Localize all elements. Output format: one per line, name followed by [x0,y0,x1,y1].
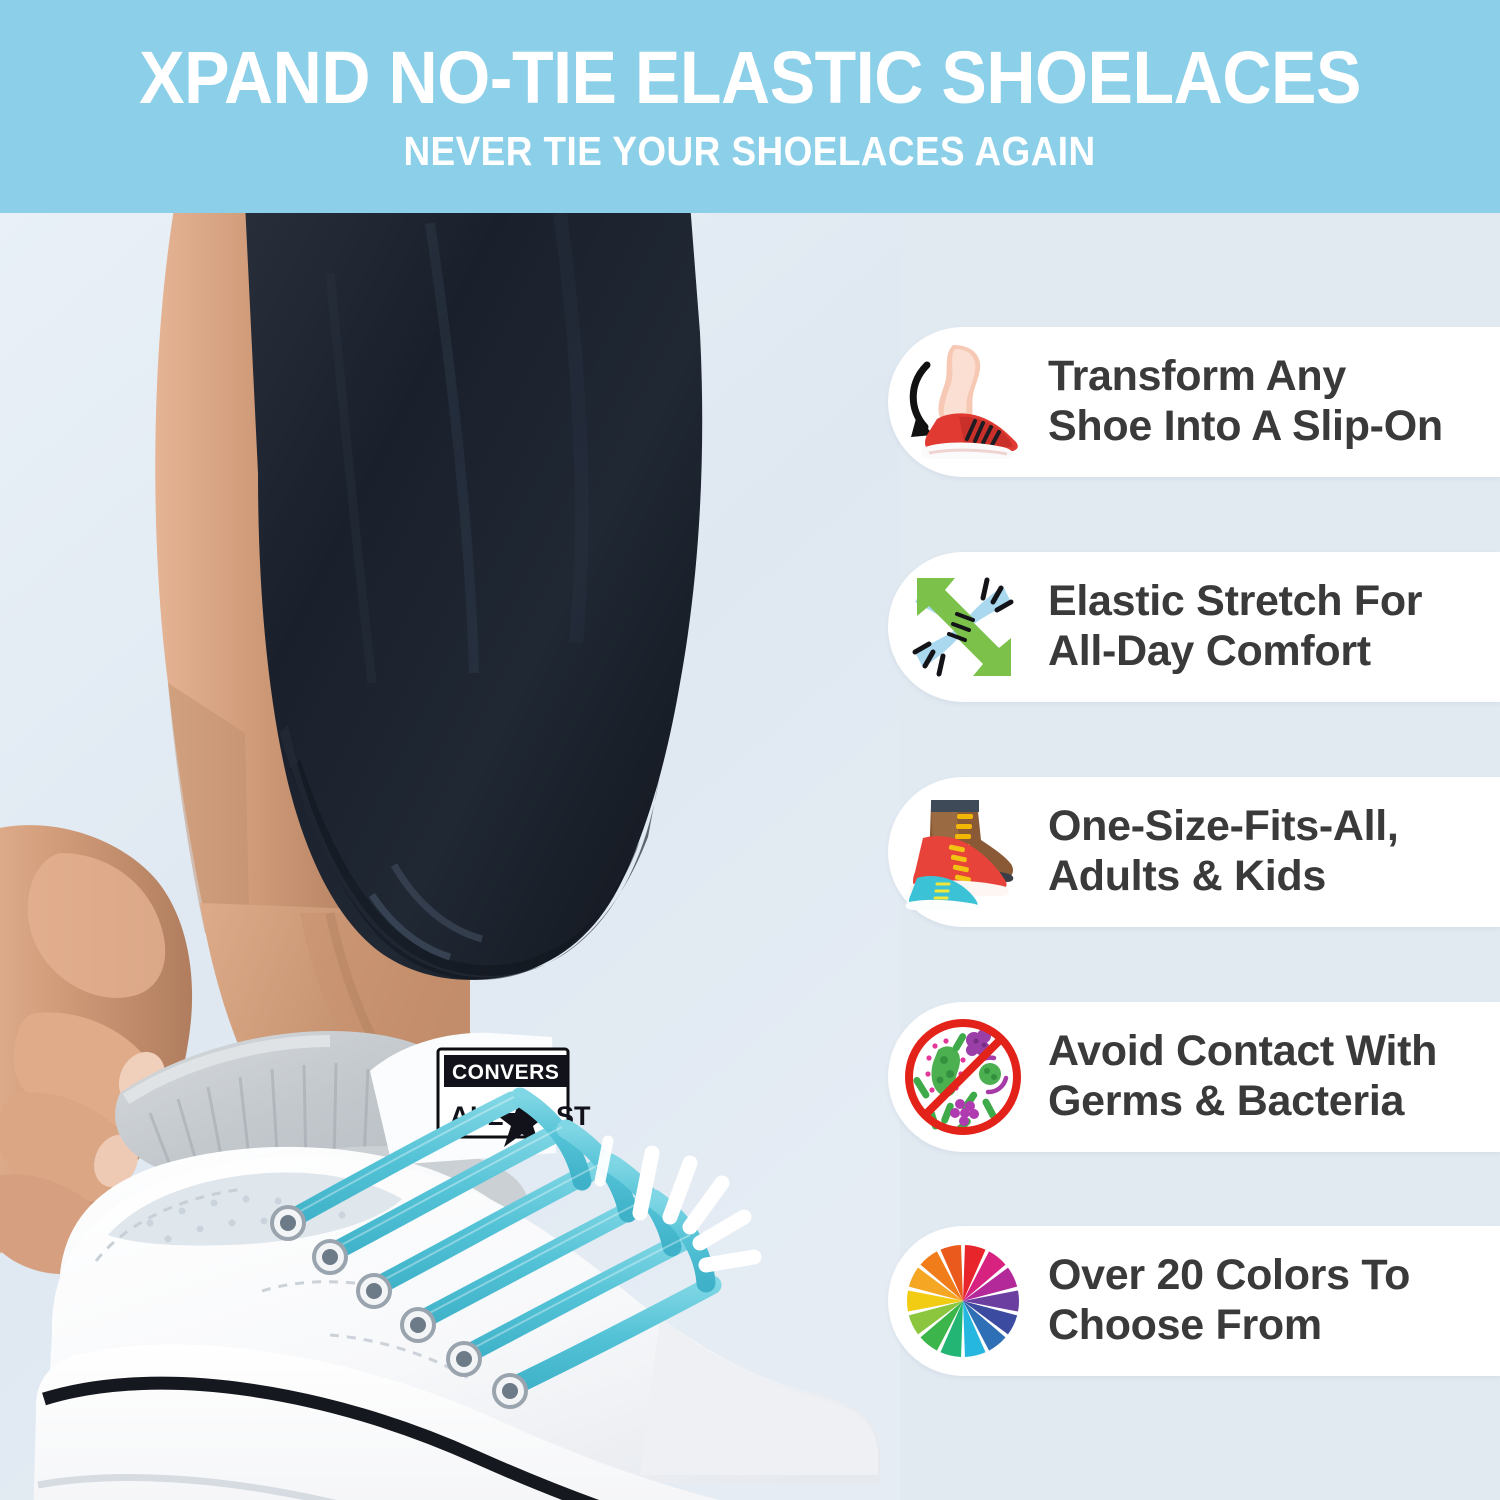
feature-label: Transform Any Shoe Into A Slip-On [1048,352,1443,452]
stretch-arrows-icon [888,552,1038,702]
color-wheel-icon [888,1226,1038,1376]
svg-text:CONVERS: CONVERS [452,1061,559,1084]
feature-card-one-size[interactable]: One-Size-Fits-All, Adults & Kids [888,777,1500,927]
banner-subtitle: NEVER TIE YOUR SHOELACES AGAIN [404,131,1096,172]
feature-card-transform-shoe[interactable]: Transform Any Shoe Into A Slip-On [888,327,1500,477]
feature-label: Elastic Stretch For All-Day Comfort [1048,577,1422,677]
header-banner: XPAND NO-TIE ELASTIC SHOELACES NEVER TIE… [0,0,1500,213]
feature-card-colors[interactable]: Over 20 Colors To Choose From [888,1226,1500,1376]
feature-card-avoid-germs[interactable]: Avoid Contact With Germs & Bacteria [888,1002,1500,1152]
foot-into-shoe-icon [888,327,1038,477]
three-shoes-icon [888,777,1038,927]
product-photo: CONVERS ALL ST [0,213,900,1500]
feature-label: Avoid Contact With Germs & Bacteria [1048,1027,1437,1127]
feature-label: One-Size-Fits-All, Adults & Kids [1048,802,1399,902]
feature-card-elastic-stretch[interactable]: Elastic Stretch For All-Day Comfort [888,552,1500,702]
feature-label: Over 20 Colors To Choose From [1048,1251,1410,1351]
banner-title: XPAND NO-TIE ELASTIC SHOELACES [139,41,1361,115]
no-germs-icon [888,1002,1038,1152]
shoe-photo-illustration: CONVERS ALL ST [0,213,900,1500]
